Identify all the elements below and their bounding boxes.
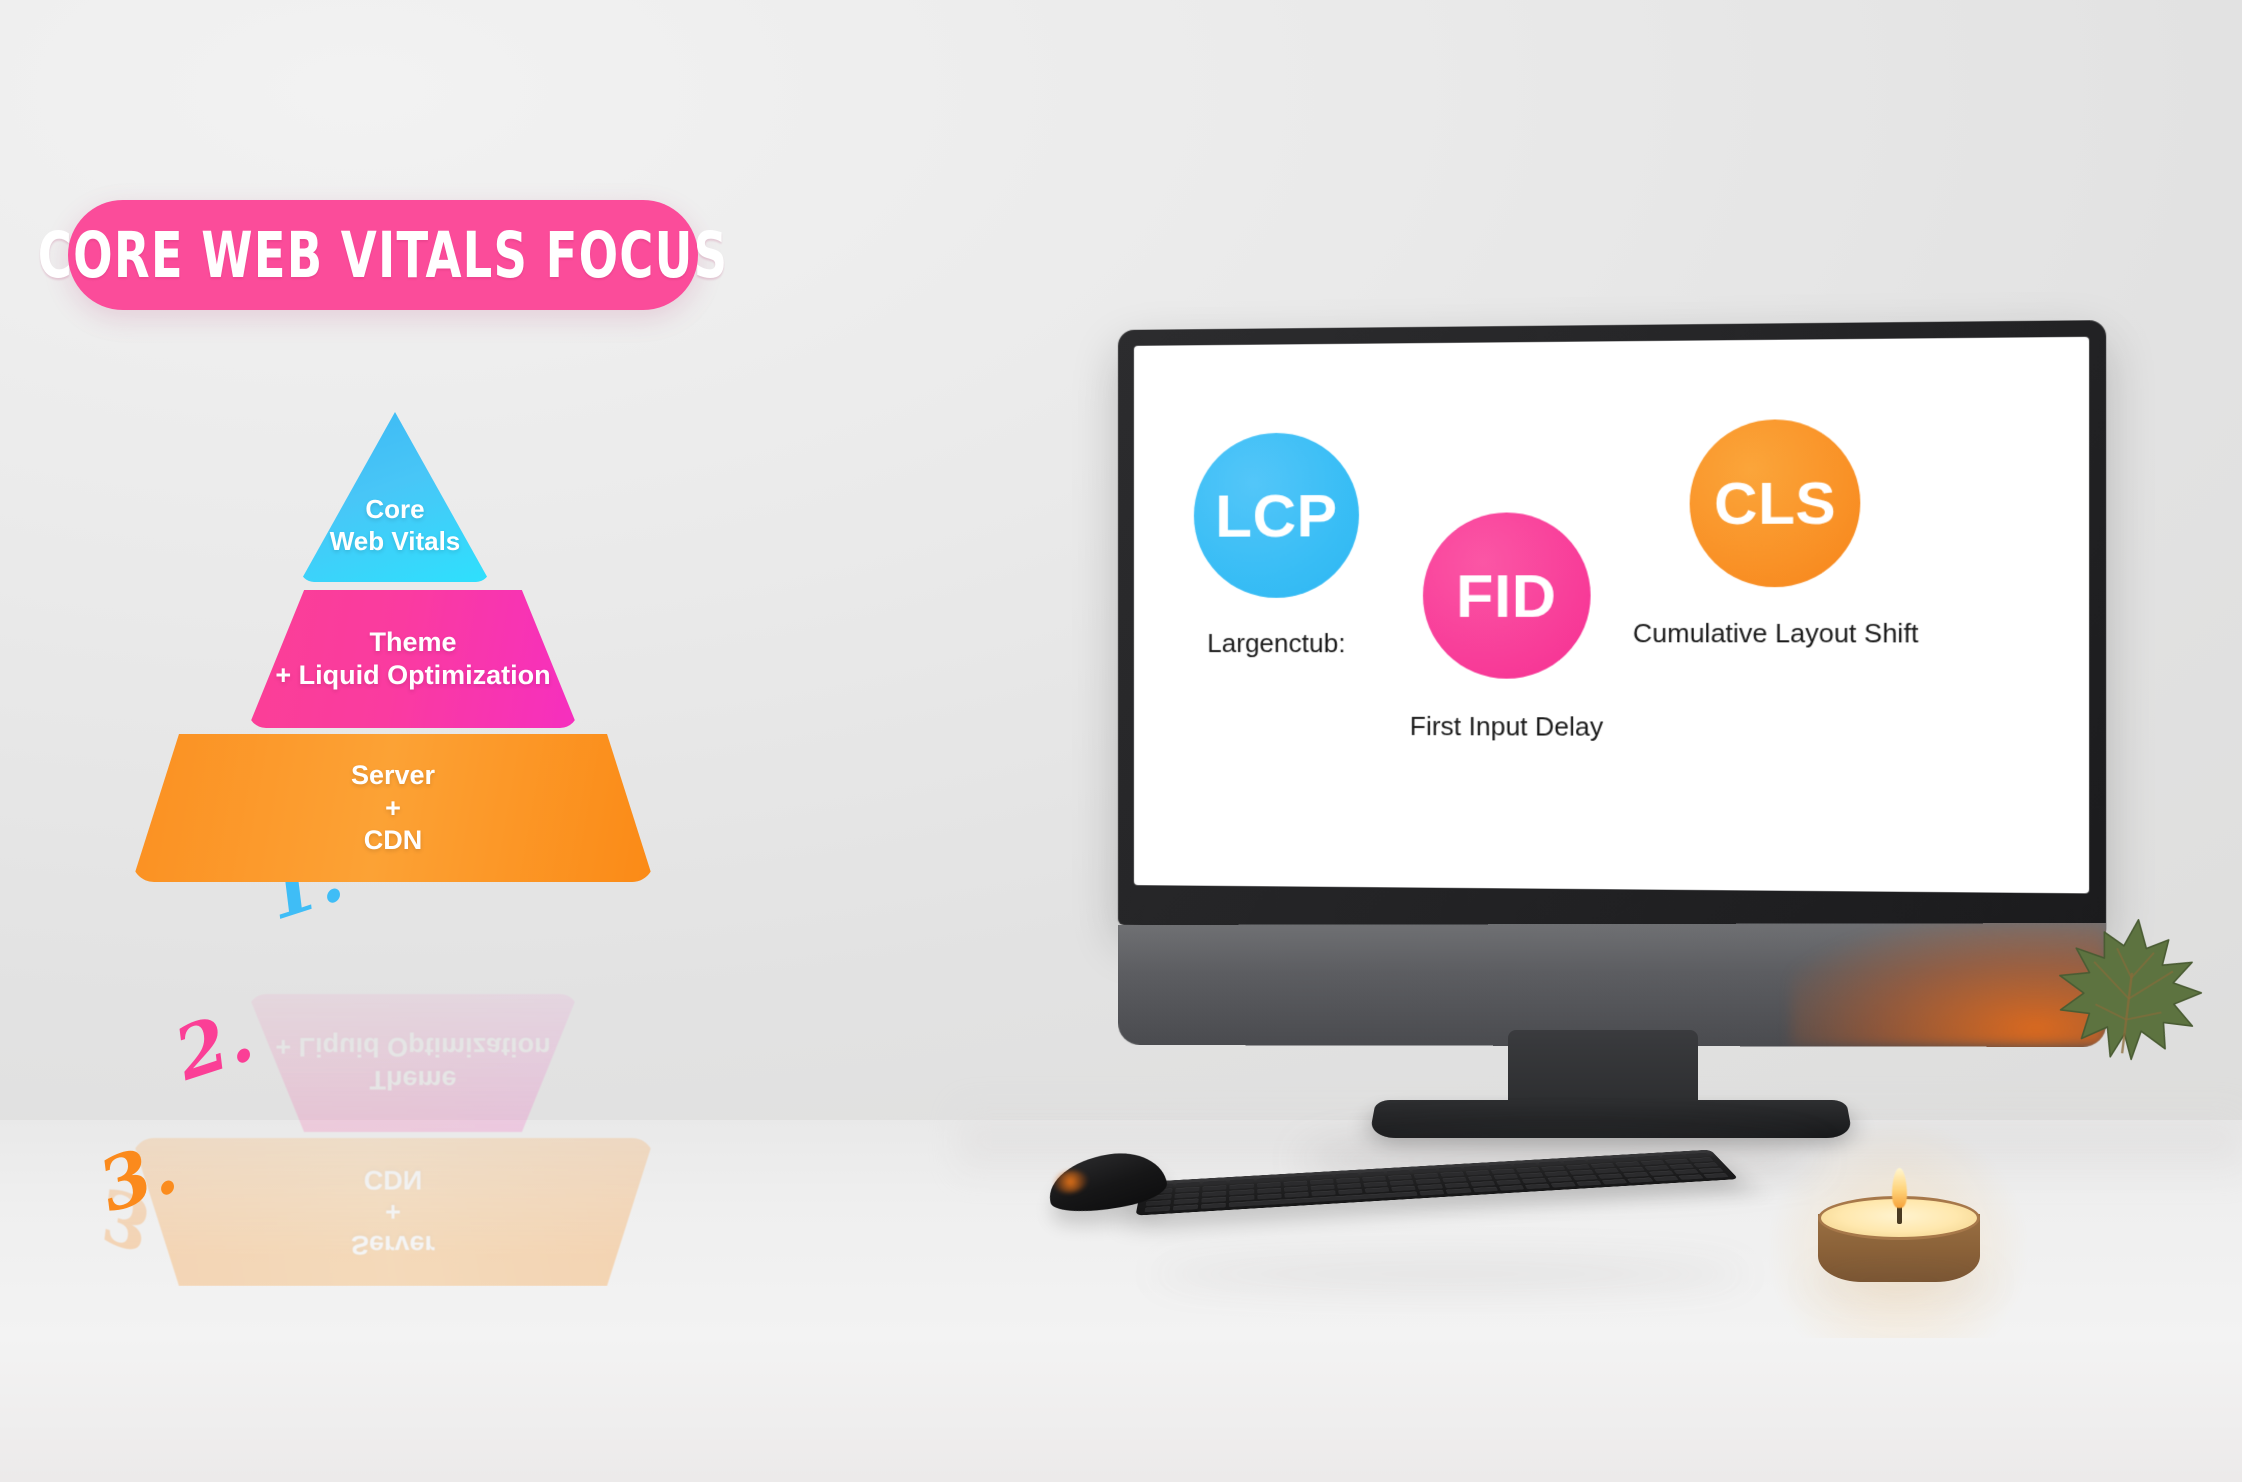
keyboard-shadow <box>1150 1258 1750 1290</box>
reflection-tier-2-label: Theme + Liquid Optimization <box>275 1030 550 1096</box>
lcp-caption: Largenctub: <box>1207 628 1345 659</box>
tier-2-line-2: + Liquid Optimization <box>275 659 550 692</box>
title-banner: CORE WEB VITALS FOCUS <box>68 200 698 310</box>
monitor-stand-foot <box>1369 1100 1853 1138</box>
scene: CORE WEB VITALS FOCUS 1. 2. 3. Core Web … <box>0 0 2242 1482</box>
reflection-tier-theme-liquid: Theme + Liquid Optimization <box>248 994 578 1132</box>
page-title: CORE WEB VITALS FOCUS <box>38 219 729 292</box>
monitor-bezel: LCP Largenctub: FID First Input Delay CL… <box>1118 320 2106 935</box>
desktop-monitor: LCP Largenctub: FID First Input Delay CL… <box>1118 330 2078 1138</box>
tier-1-label: Core Web Vitals <box>330 436 461 557</box>
tier-1-line-1: Core <box>330 494 461 526</box>
maple-leaf <box>2037 898 2223 1079</box>
lcp-bubble: LCP <box>1194 432 1359 597</box>
fid-bubble: FID <box>1423 512 1591 679</box>
tier-1-line-2: Web Vitals <box>330 526 461 558</box>
tier-3-line-2: + <box>351 792 435 825</box>
metric-cls: CLS Cumulative Layout Shift <box>1633 419 1919 650</box>
pyramid-tier-core-web-vitals: Core Web Vitals <box>300 412 490 582</box>
tier-2-label: Theme + Liquid Optimization <box>275 626 550 692</box>
fid-caption: First Input Delay <box>1410 711 1604 743</box>
reflection-tier-2-line-2: + Liquid Optimization <box>275 1030 550 1063</box>
metric-lcp: LCP Largenctub: <box>1194 432 1359 659</box>
metric-fid: FID First Input Delay <box>1410 512 1604 743</box>
cls-caption: Cumulative Layout Shift <box>1633 618 1919 650</box>
step-number-2: 2. <box>165 992 263 1096</box>
core-web-vitals-diagram: LCP Largenctub: FID First Input Delay CL… <box>1134 337 2089 894</box>
pyramid-tier-server-cdn: Server + CDN <box>132 734 654 882</box>
monitor-screen: LCP Largenctub: FID First Input Delay CL… <box>1134 337 2089 894</box>
tier-3-line-1: Server <box>351 759 435 792</box>
tier-2-line-1: Theme <box>275 626 550 659</box>
reflection-tier-2-line-1: Theme <box>275 1063 550 1096</box>
tier-3-label: Server + CDN <box>351 759 435 858</box>
maple-leaf-icon <box>2037 898 2223 1079</box>
monitor-chin <box>1118 923 2106 1047</box>
candle-shadow <box>1806 1268 1996 1296</box>
priority-pyramid: 1. 2. 3. Core Web Vitals Theme + Liquid … <box>0 412 720 882</box>
pyramid-tier-theme-liquid: Theme + Liquid Optimization <box>248 590 578 728</box>
tier-3-line-3: CDN <box>351 824 435 857</box>
cls-bubble: CLS <box>1690 419 1861 587</box>
